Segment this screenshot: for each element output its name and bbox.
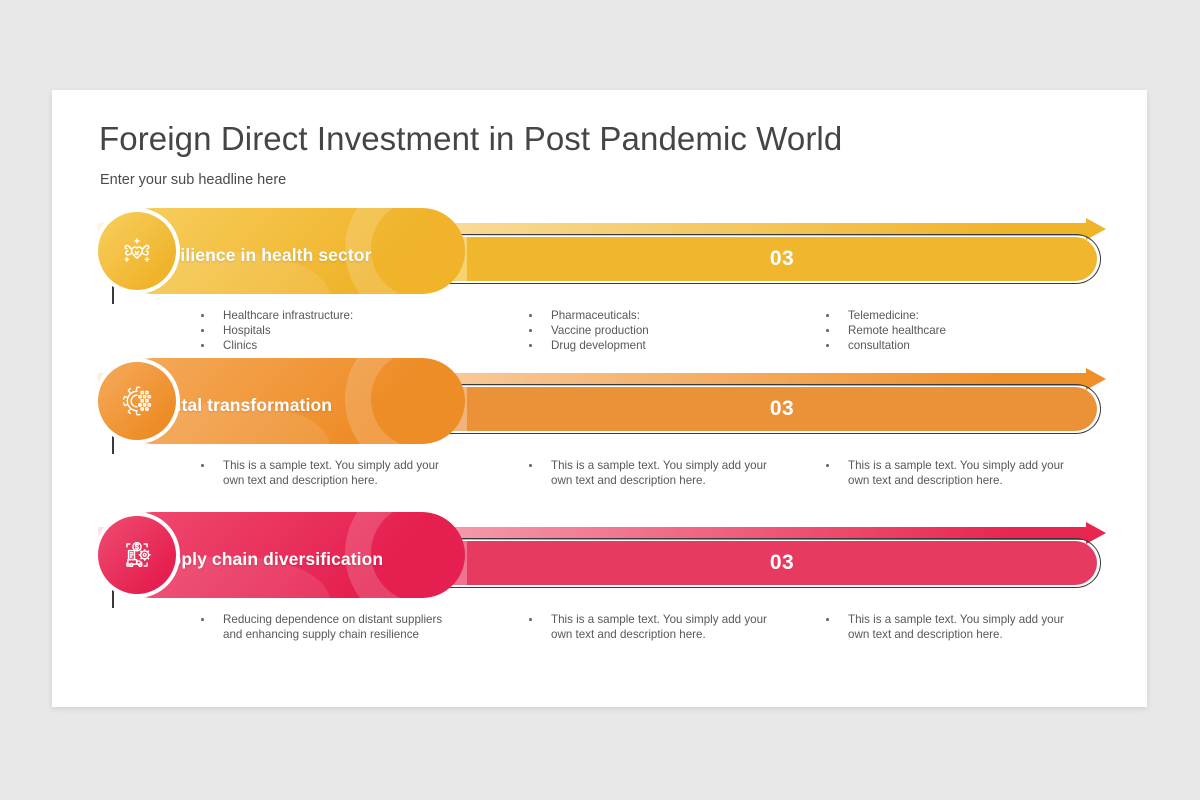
bullet-columns: Reducing dependence on distant suppliers… <box>52 612 1147 672</box>
supply-chain-truck-icon[interactable] <box>98 516 176 594</box>
bullet-item: Clinics <box>197 338 447 353</box>
segment-number-label: 03 <box>770 397 794 421</box>
bullet-item: Healthcare infrastructure: <box>197 308 447 323</box>
infographic-row-digital-transformation: 010203Digital transformationThis is a sa… <box>52 362 1147 512</box>
bullet-column-3: Telemedicine:Remote healthcareconsultati… <box>822 308 1072 353</box>
bullet-item: Reducing dependence on distant suppliers… <box>197 612 447 642</box>
bullet-column-1: Reducing dependence on distant suppliers… <box>197 612 447 642</box>
segment-number-label: 03 <box>770 551 794 575</box>
category-heading-resilience-in-health-sector: Resilience in health sector <box>148 212 371 298</box>
category-heading-supply-chain-diversification: Supply chain diversification <box>148 516 383 602</box>
infographic-row-supply-chain-diversification: 010203Supply chain diversificationReduci… <box>52 516 1147 666</box>
bullet-list: This is a sample text. You simply add yo… <box>822 458 1072 488</box>
segment-03[interactable]: 03 <box>467 387 1097 431</box>
bullet-item: This is a sample text. You simply add yo… <box>822 458 1072 488</box>
bullet-column-1: This is a sample text. You simply add yo… <box>197 458 447 488</box>
bullet-item: Remote healthcare <box>822 323 1072 338</box>
segment-number-label: 03 <box>770 247 794 271</box>
bullet-item: This is a sample text. You simply add yo… <box>525 612 775 642</box>
bullet-column-2: This is a sample text. You simply add yo… <box>525 612 775 642</box>
bullet-column-3: This is a sample text. You simply add yo… <box>822 612 1072 642</box>
bullet-list: Reducing dependence on distant suppliers… <box>197 612 447 642</box>
bullet-item: This is a sample text. You simply add yo… <box>822 612 1072 642</box>
bullet-item: Hospitals <box>197 323 447 338</box>
segment-03[interactable]: 03 <box>467 237 1097 281</box>
bullet-item: Telemedicine: <box>822 308 1072 323</box>
health-heart-muscle-icon[interactable] <box>98 212 176 290</box>
page-subtitle: Enter your sub headline here <box>100 172 286 188</box>
bullet-columns: This is a sample text. You simply add yo… <box>52 458 1147 518</box>
bullet-list: Healthcare infrastructure:HospitalsClini… <box>197 308 447 353</box>
bullet-list: Telemedicine:Remote healthcareconsultati… <box>822 308 1072 353</box>
page-title: Foreign Direct Investment in Post Pandem… <box>99 120 842 158</box>
bullet-column-2: This is a sample text. You simply add yo… <box>525 458 775 488</box>
bullet-item: This is a sample text. You simply add yo… <box>197 458 447 488</box>
bullet-list: This is a sample text. You simply add yo… <box>525 612 775 642</box>
gear-digital-pixels-icon[interactable] <box>98 362 176 440</box>
bullet-list: This is a sample text. You simply add yo… <box>822 612 1072 642</box>
bullet-item: This is a sample text. You simply add yo… <box>525 458 775 488</box>
infographic-row-resilience-in-health-sector: 010203Resilience in health sectorHealthc… <box>52 212 1147 362</box>
bullet-column-3: This is a sample text. You simply add yo… <box>822 458 1072 488</box>
bullet-item: consultation <box>822 338 1072 353</box>
bullet-item: Drug development <box>525 338 775 353</box>
segment-03[interactable]: 03 <box>467 541 1097 585</box>
slide-card: Foreign Direct Investment in Post Pandem… <box>52 90 1147 707</box>
bullet-list: This is a sample text. You simply add yo… <box>525 458 775 488</box>
bullet-column-2: Pharmaceuticals:Vaccine productionDrug d… <box>525 308 775 353</box>
bullet-list: This is a sample text. You simply add yo… <box>197 458 447 488</box>
bullet-column-1: Healthcare infrastructure:HospitalsClini… <box>197 308 447 353</box>
bullet-list: Pharmaceuticals:Vaccine productionDrug d… <box>525 308 775 353</box>
bullet-item: Vaccine production <box>525 323 775 338</box>
pill-swoosh-decoration <box>325 358 465 444</box>
bullet-item: Pharmaceuticals: <box>525 308 775 323</box>
